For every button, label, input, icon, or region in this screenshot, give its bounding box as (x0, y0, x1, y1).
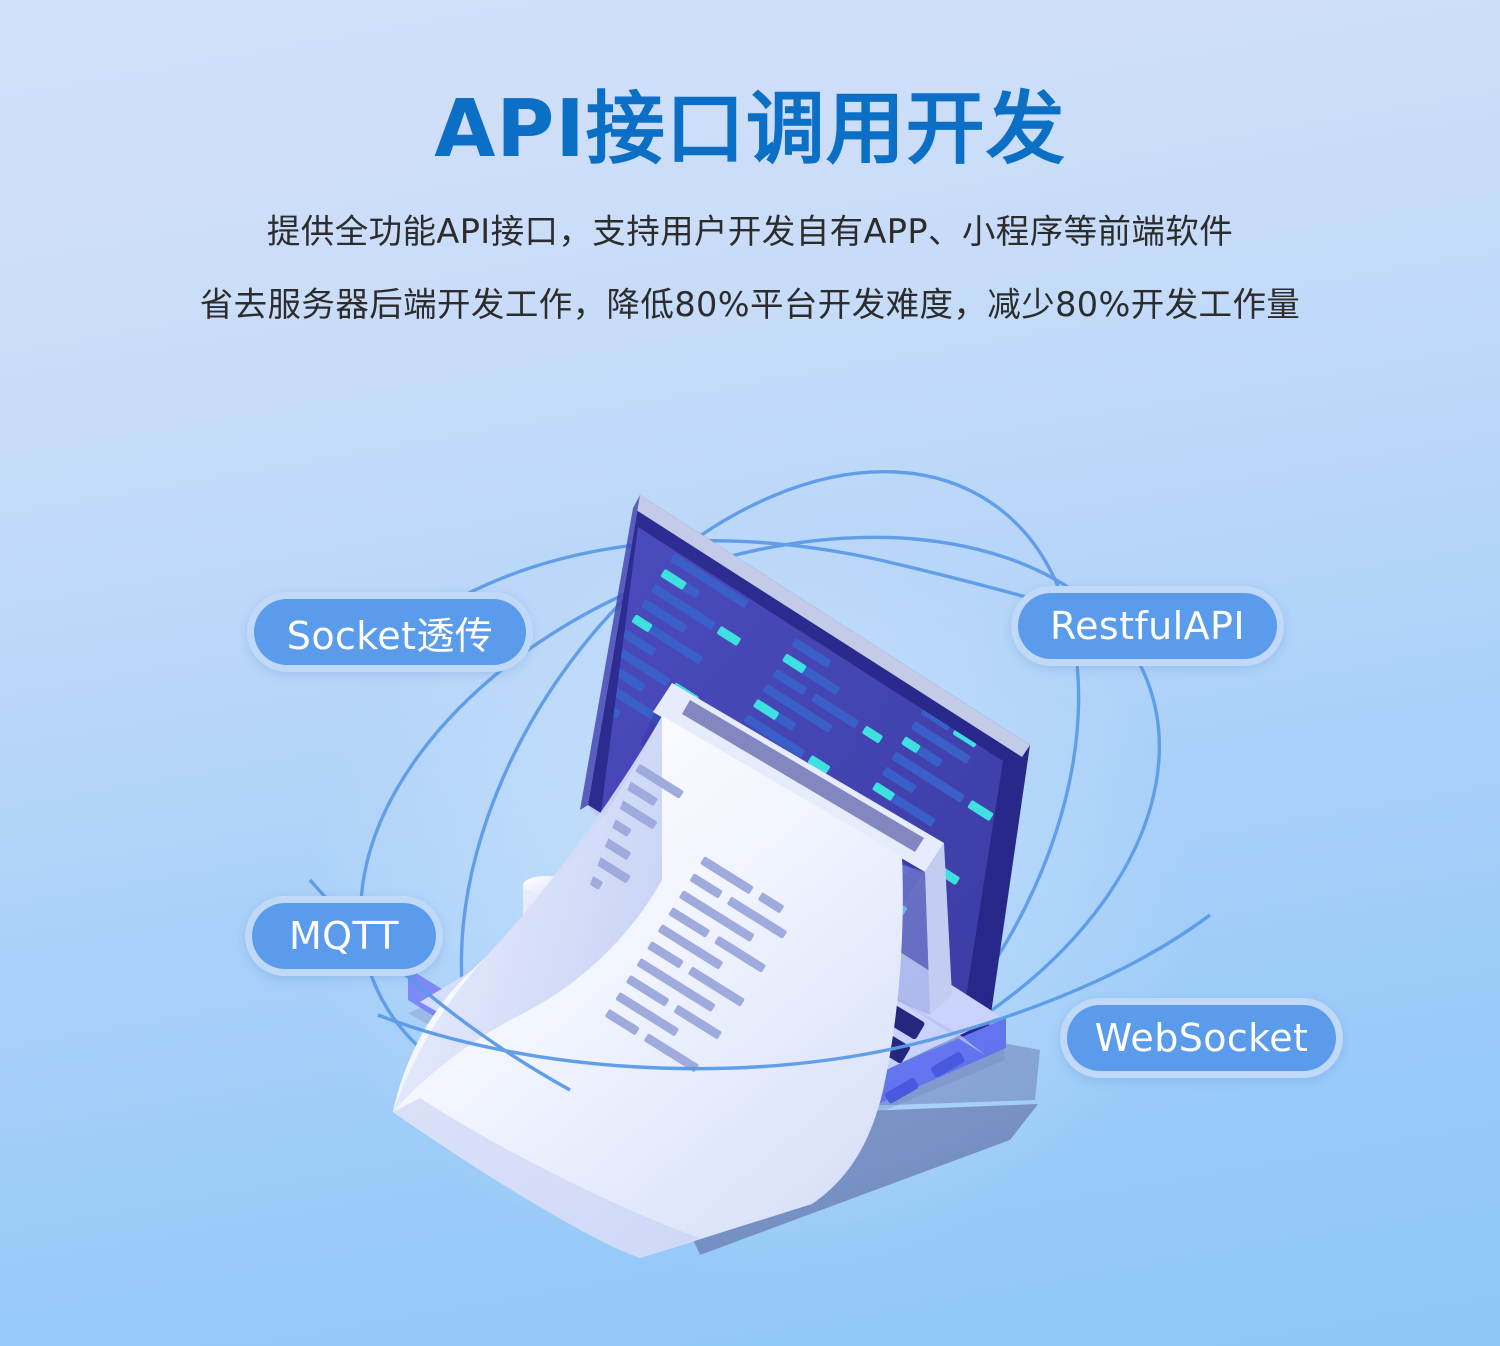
pill-mqtt[interactable]: MQTT (245, 896, 443, 976)
chart-bar-4 (627, 956, 672, 1052)
pill-socket-transparent-transmission[interactable]: Socket透传 (247, 592, 533, 672)
laptop-ground-shadow (408, 1000, 1040, 1255)
paper-text-lines (516, 764, 821, 1075)
chart-bar-3 (591, 923, 636, 1029)
page-title: API接口调用开发 (0, 0, 1500, 172)
chart-bar-5 (661, 991, 706, 1077)
pill-websocket[interactable]: WebSocket (1060, 998, 1343, 1078)
poster-root: API接口调用开发 提供全功能API接口，支持用户开发自有APP、小程序等前端软… (0, 0, 1500, 1346)
poster-header: API接口调用开发 提供全功能API接口，支持用户开发自有APP、小程序等前端软… (0, 0, 1500, 322)
laptop-base (408, 802, 1006, 1182)
printer-slot (653, 683, 952, 1015)
chart-bar-2 (556, 928, 601, 1024)
chart-bar-1 (523, 876, 568, 1010)
pill-restful-api[interactable]: RestfulAPI (1011, 586, 1284, 666)
subtitle-line-2: 省去服务器后端开发工作，降低80%平台开发难度，减少80%开发工作量 (0, 288, 1500, 322)
orbit-rings (276, 357, 1244, 1303)
bar-chart-cylinders (523, 876, 706, 1077)
laptop-ports (884, 1051, 965, 1104)
paper-receipt (393, 716, 903, 1258)
keyboard-keys (451, 802, 925, 1142)
subtitle-line-1: 提供全功能API接口，支持用户开发自有APP、小程序等前端软件 (0, 215, 1500, 249)
